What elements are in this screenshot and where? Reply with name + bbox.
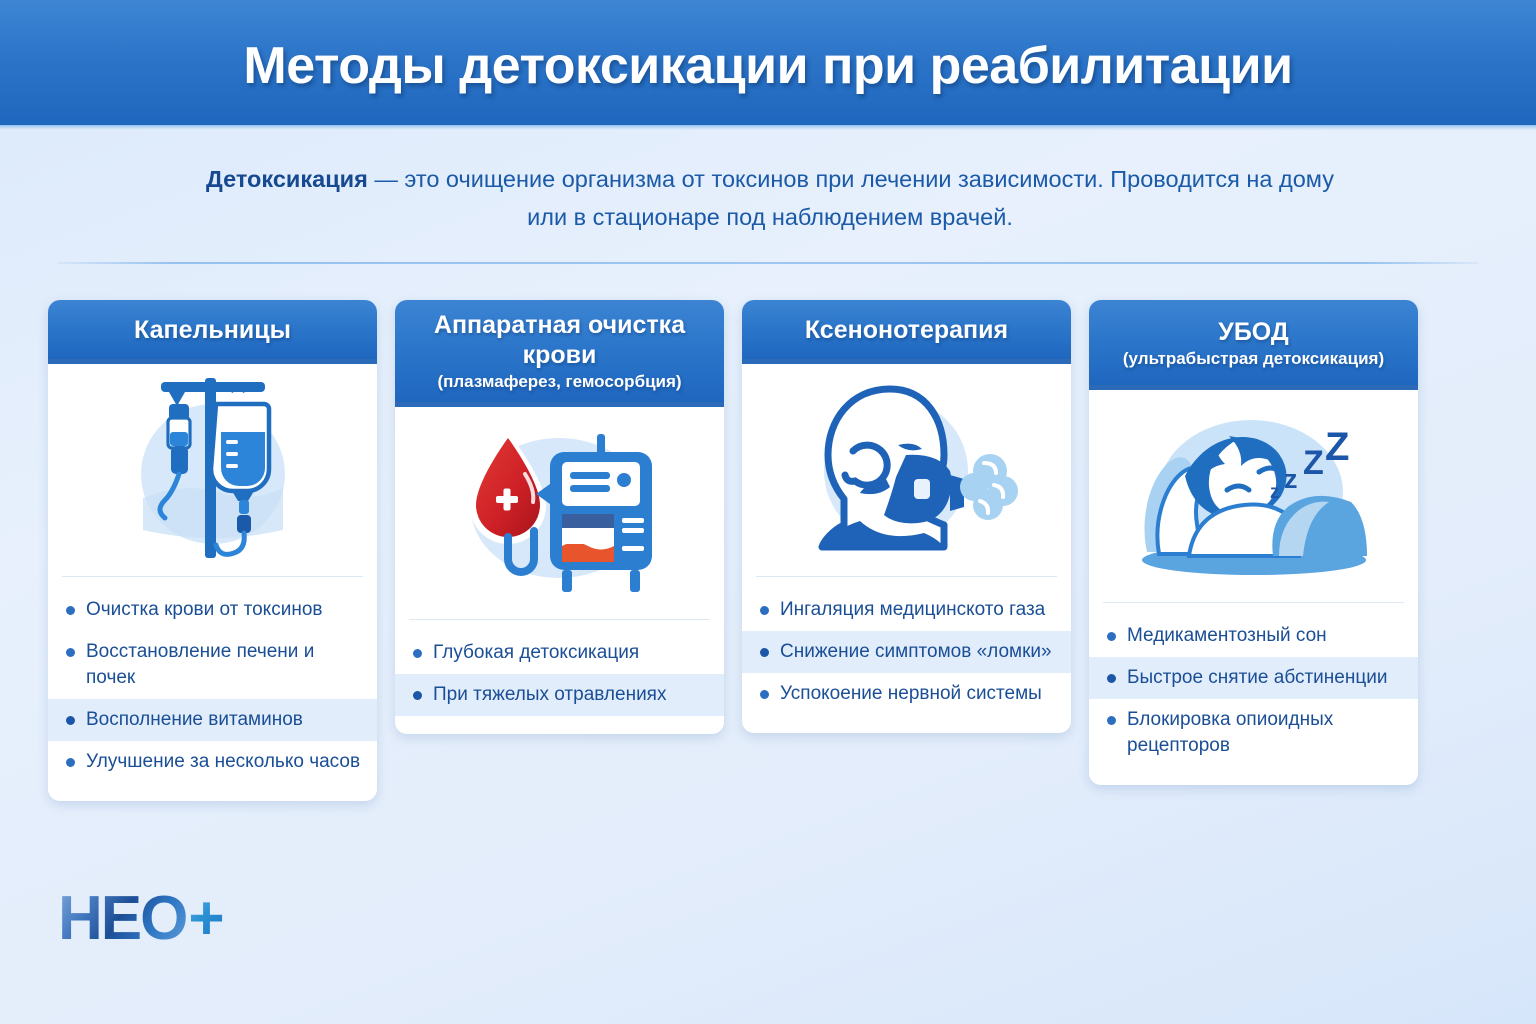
list-item: Успокоение нервной системы [742, 673, 1071, 715]
method-card-drip[interactable]: Капельницы [48, 300, 377, 801]
page-header: Методы детоксикации при реабилитации [0, 0, 1536, 131]
logo-wordmark: НЕО [58, 888, 186, 950]
list-item: Ингаляция медицинското газа [742, 589, 1071, 631]
list-item-label: Восстановление печени и почек [86, 639, 361, 691]
list-item: Улучшение за несколько часов [48, 741, 377, 783]
card-subtitle: (плазмаферез, гемосорбция) [437, 371, 681, 393]
card-title: Капельницы [134, 315, 291, 345]
list-item: Восполнение витаминов [48, 699, 377, 741]
iv-drip-icon [48, 364, 377, 576]
list-item-label: При тяжелых отравлениях [433, 682, 666, 708]
bullet-dot-icon [66, 606, 75, 615]
bullet-dot-icon [1107, 674, 1116, 683]
svg-text:Z: Z [1325, 425, 1349, 469]
bullet-dot-icon [760, 606, 769, 615]
bullet-dot-icon [413, 691, 422, 700]
bullet-dot-icon [66, 758, 75, 767]
card-subtitle: (ультрабыстрая детоксикация) [1123, 348, 1384, 370]
list-item-label: Снижение симптомов «ломки» [780, 639, 1052, 665]
subtitle-lead-word: Детоксикация [206, 166, 368, 192]
list-item-label: Восполнение витаминов [86, 707, 303, 733]
card-header-blood-purification: Аппаратная очистка крови (плазмаферез, г… [395, 300, 724, 407]
benefit-list: Очистка крови от токсинов Восстановление… [48, 577, 377, 801]
blood-purification-icon [395, 407, 724, 619]
list-item: Медикаментозный сон [1089, 615, 1418, 657]
benefit-list: Медикаментозный сон Быстрое снятие абсти… [1089, 603, 1418, 785]
benefit-list: Глубокая детоксикация При тяжелых отравл… [395, 620, 724, 734]
card-title: Ксенонотерапия [805, 315, 1008, 345]
list-item: Глубокая детоксикация [395, 632, 724, 674]
list-item: Снижение симптомов «ломки» [742, 631, 1071, 673]
card-title: Аппаратная очистка крови [405, 310, 714, 370]
method-card-xenon-therapy[interactable]: Ксенонотерапия [742, 300, 1071, 733]
method-card-ubod[interactable]: УБОД (ультрабыстрая детоксикация) z [1089, 300, 1418, 785]
plus-icon: + [188, 888, 224, 950]
subtitle-rest-text: — это очищение организма от токсинов при… [368, 166, 1334, 230]
list-item-label: Ингаляция медицинското газа [780, 597, 1045, 623]
card-header-xenon-therapy: Ксенонотерапия [742, 300, 1071, 364]
list-item: Очистка крови от токсинов [48, 589, 377, 631]
list-item-label: Быстрое снятие абстиненции [1127, 665, 1387, 691]
sleeping-patient-icon: z z Z Z [1089, 390, 1418, 602]
brand-logo[interactable]: НЕО + [58, 888, 225, 950]
svg-text:z: z [1270, 482, 1280, 503]
card-title: УБОД [1218, 317, 1288, 347]
section-divider [58, 262, 1478, 264]
card-header-ubod: УБОД (ультрабыстрая детоксикация) [1089, 300, 1418, 390]
svg-text:z: z [1284, 464, 1298, 494]
bullet-dot-icon [66, 648, 75, 657]
method-card-blood-purification[interactable]: Аппаратная очистка крови (плазмаферез, г… [395, 300, 724, 734]
page-title: Методы детоксикации при реабилитации [243, 36, 1292, 96]
list-item: Восстановление печени и почек [48, 631, 377, 699]
list-item-label: Медикаментозный сон [1127, 623, 1327, 649]
bullet-dot-icon [1107, 716, 1116, 725]
list-item-label: Улучшение за несколько часов [86, 749, 360, 775]
bullet-dot-icon [66, 716, 75, 725]
bullet-dot-icon [413, 649, 422, 658]
bullet-dot-icon [760, 690, 769, 699]
subtitle-paragraph: Детоксикация — это очищение организма от… [190, 160, 1350, 236]
list-item-label: Глубокая детоксикация [433, 640, 639, 666]
list-item-label: Успокоение нервной системы [780, 681, 1042, 707]
list-item: Блокировка опиоидных рецепторов [1089, 699, 1418, 767]
method-cards-row: Капельницы [48, 300, 1488, 801]
bullet-dot-icon [760, 648, 769, 657]
card-header-drip: Капельницы [48, 300, 377, 364]
list-item: Быстрое снятие абстиненции [1089, 657, 1418, 699]
benefit-list: Ингаляция медицинското газа Снижение сим… [742, 577, 1071, 733]
list-item-label: Блокировка опиоидных рецепторов [1127, 707, 1402, 759]
svg-text:Z: Z [1303, 444, 1324, 482]
list-item-label: Очистка крови от токсинов [86, 597, 322, 623]
list-item: При тяжелых отравлениях [395, 674, 724, 716]
bullet-dot-icon [1107, 632, 1116, 641]
gas-mask-inhalation-icon [742, 364, 1071, 576]
